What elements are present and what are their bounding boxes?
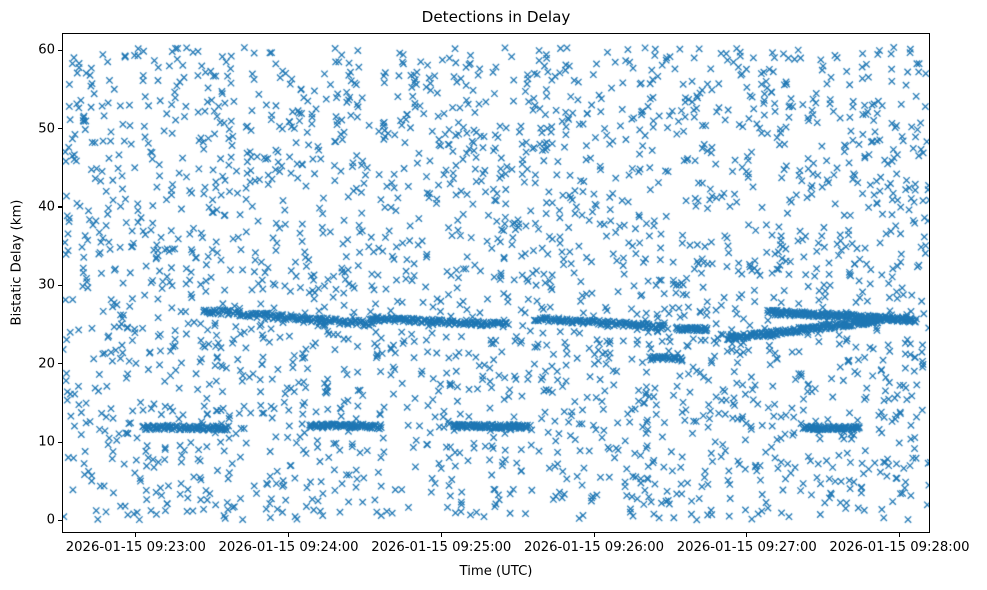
x-tick-label: 2026-01-15 09:23:00	[66, 540, 206, 555]
y-tick-label: 40	[0, 199, 55, 214]
y-tick-mark	[58, 50, 62, 51]
y-axis-label: Bistatic Delay (km)	[10, 13, 25, 513]
y-tick-mark	[58, 206, 62, 207]
x-tick-mark	[594, 533, 595, 537]
plot-axes	[62, 33, 930, 533]
y-tick-mark	[58, 442, 62, 443]
scatter-plot-canvas	[63, 34, 930, 533]
x-tick-label: 2026-01-15 09:25:00	[371, 540, 511, 555]
x-tick-mark	[746, 533, 747, 537]
x-tick-mark	[899, 533, 900, 537]
y-tick-mark	[58, 285, 62, 286]
y-tick-label: 0	[0, 513, 55, 528]
x-tick-mark	[441, 533, 442, 537]
x-tick-label: 2026-01-15 09:28:00	[829, 540, 969, 555]
y-tick-label: 30	[0, 278, 55, 293]
x-tick-label: 2026-01-15 09:26:00	[524, 540, 664, 555]
x-tick-mark	[288, 533, 289, 537]
y-tick-mark	[58, 128, 62, 129]
y-tick-label: 60	[0, 43, 55, 58]
y-tick-mark	[58, 363, 62, 364]
x-tick-label: 2026-01-15 09:27:00	[677, 540, 817, 555]
figure-canvas: Detections in Delay 0102030405060 Bistat…	[0, 0, 987, 590]
x-tick-label: 2026-01-15 09:24:00	[219, 540, 359, 555]
page-title: Detections in Delay	[62, 8, 930, 26]
y-tick-label: 10	[0, 435, 55, 450]
x-axis-label: Time (UTC)	[62, 564, 930, 579]
x-tick-mark	[135, 533, 136, 537]
y-tick-label: 20	[0, 356, 55, 371]
y-tick-mark	[58, 520, 62, 521]
y-tick-label: 50	[0, 121, 55, 136]
